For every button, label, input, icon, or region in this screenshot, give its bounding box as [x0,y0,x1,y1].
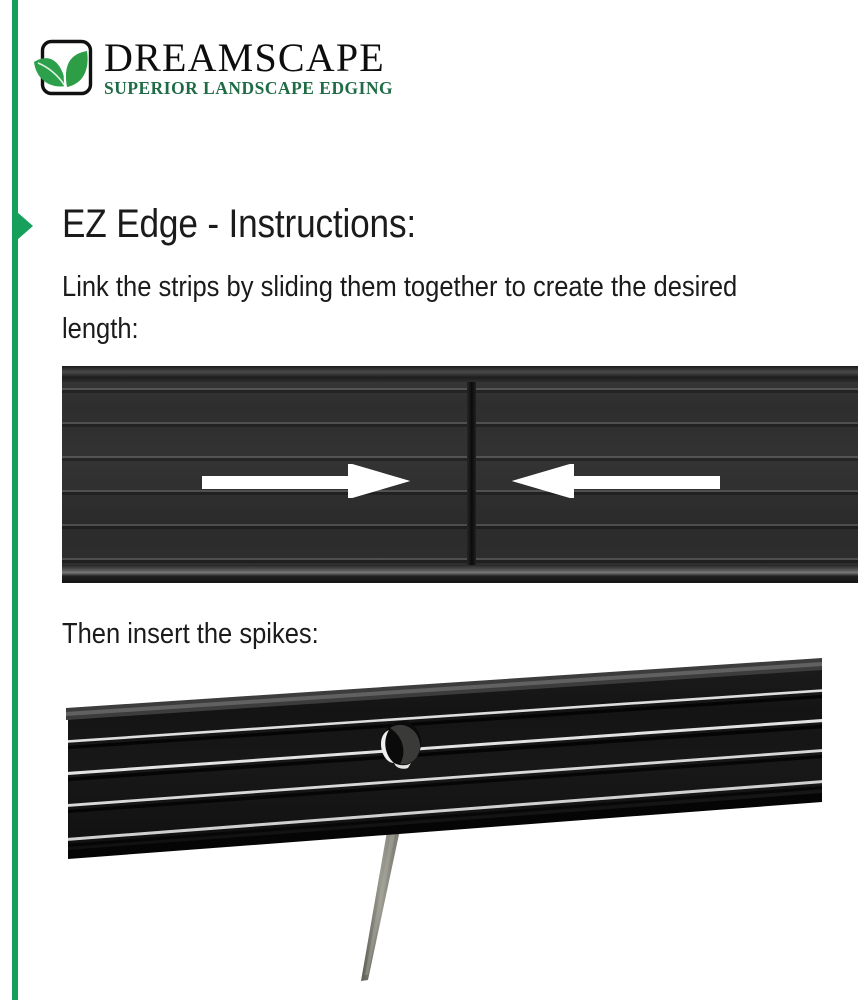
linked-strips-photo [62,366,858,583]
edging-strip-right [471,366,858,583]
brand-name: DREAMSCAPE [104,38,393,77]
left-accent-bar [12,0,18,1000]
brand-wordmark: DREAMSCAPE SUPERIOR LANDSCAPE EDGING [104,37,393,97]
edging-strip-perspective [60,658,830,859]
brand-logo: DREAMSCAPE SUPERIOR LANDSCAPE EDGING [32,37,393,105]
page-title: EZ Edge - Instructions: [62,203,416,246]
two-leaves-in-rounded-square-icon [32,37,96,105]
step-1-instruction: Link the strips by sliding them together… [62,266,766,350]
spike-insertion-photo [50,650,850,995]
right-triangle-marker-icon [17,212,33,240]
edging-strip-left [62,366,471,583]
brand-tagline: SUPERIOR LANDSCAPE EDGING [104,79,393,97]
step-2-instruction: Then insert the spikes: [62,614,319,655]
instruction-sheet-page: DREAMSCAPE SUPERIOR LANDSCAPE EDGING EZ … [0,0,865,1000]
